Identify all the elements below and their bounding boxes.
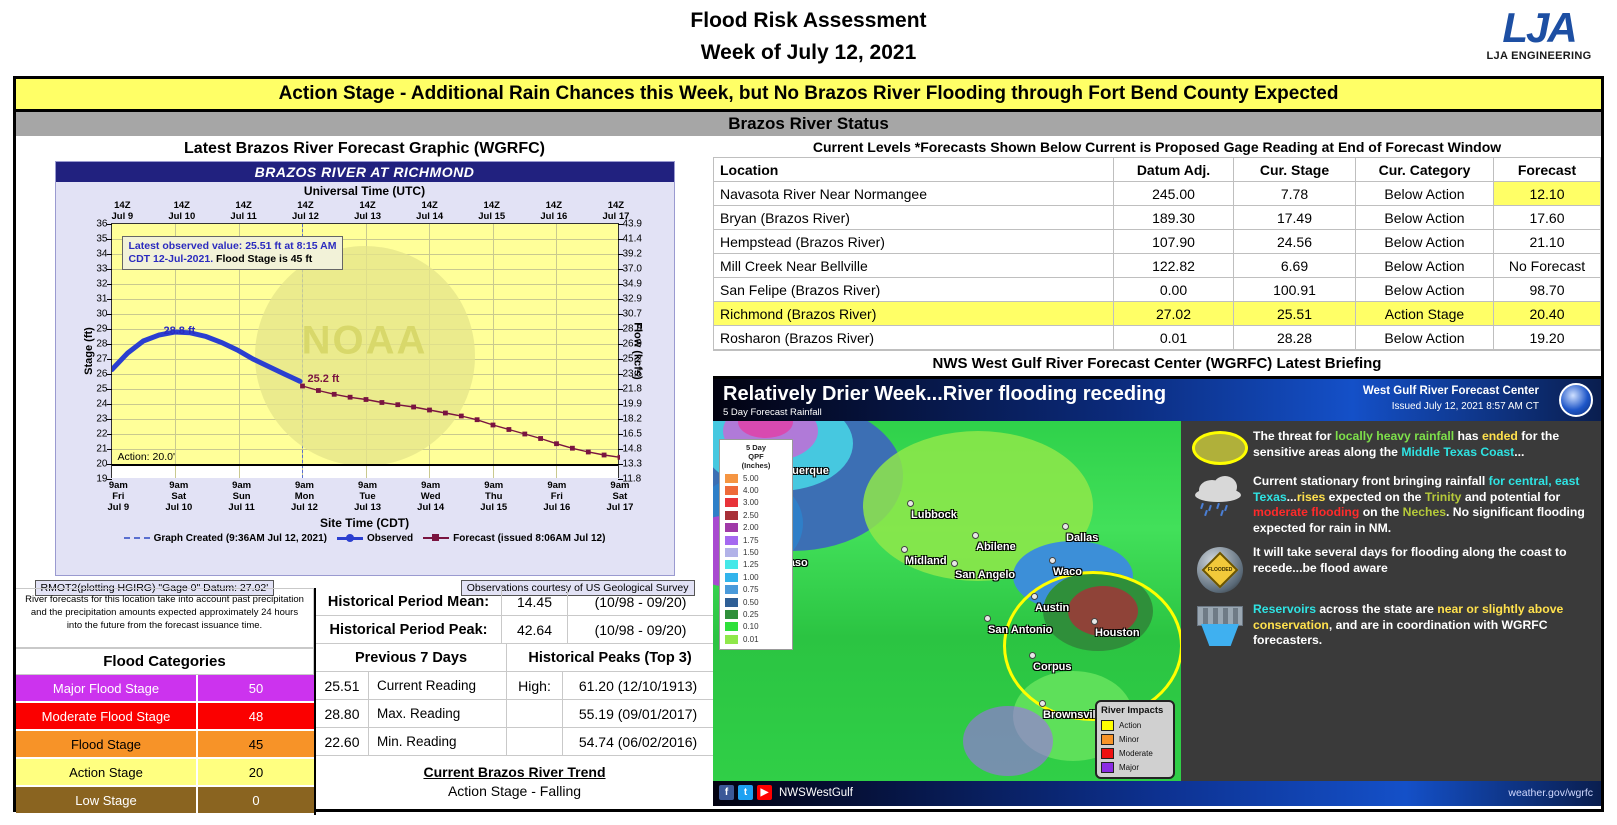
- column-header-datum-adj: Datum Adj.: [1114, 158, 1234, 182]
- flood-category-row: Moderate Flood Stage48: [16, 703, 314, 731]
- briefing-map-caption: 5 Day Forecast Rainfall: [723, 407, 822, 418]
- river-impact-item: Major: [1101, 760, 1169, 774]
- qpf-label: 1.00: [743, 573, 759, 582]
- qpf-legend-item: 0.50: [723, 596, 789, 608]
- cell-cur-category: Below Action: [1356, 182, 1494, 206]
- bullet-text-segment: ended: [1482, 429, 1518, 443]
- qpf-swatch: [725, 610, 738, 619]
- page-title-line2: Week of July 12, 2021: [0, 41, 1617, 65]
- river-impacts-legend: River Impacts ActionMinorModerateMajor: [1095, 700, 1175, 779]
- cell-cur-stage: 7.78: [1234, 182, 1356, 206]
- briefing-issued: Issued July 12, 2021 8:57 AM CT: [1392, 401, 1539, 412]
- forecast-point: [538, 436, 543, 441]
- briefing-footer: f t ▶ NWSWestGulf weather.gov/wgrfc: [713, 781, 1601, 806]
- column-header-cur-stage: Cur. Stage: [1234, 158, 1356, 182]
- left-column: Latest Brazos River Forecast Graphic (WG…: [13, 136, 713, 812]
- qpf-legend-item: 4.00: [723, 484, 789, 496]
- cell-cur-stage: 100.91: [1234, 278, 1356, 302]
- map-city-dot: [901, 546, 908, 553]
- alert-banner: Action Stage - Additional Rain Chances t…: [16, 79, 1601, 109]
- cell-forecast: 17.60: [1494, 206, 1601, 230]
- bullet-text: The threat for locally heavy rainfall ha…: [1253, 429, 1591, 465]
- qpf-swatch: [725, 486, 738, 495]
- current-levels-table: LocationDatum Adj.Cur. StageCur. Categor…: [713, 157, 1601, 350]
- river-impact-item: Minor: [1101, 732, 1169, 746]
- flood-category-label: Moderate Flood Stage: [16, 703, 196, 729]
- qpf-label: 0.75: [743, 585, 759, 594]
- peak-high-label: [506, 700, 562, 727]
- qpf-legend-item: 0.75: [723, 584, 789, 596]
- historical-row: 22.60Min. Reading54.74 (06/02/2016): [316, 728, 713, 756]
- historical-mean-value: 14.45: [501, 588, 567, 615]
- qpf-legend-item: 1.25: [723, 559, 789, 571]
- table-row: Hempstead (Brazos River)107.9024.56Below…: [714, 230, 1601, 254]
- map-city-dot: [1031, 593, 1038, 600]
- hydrograph-plot-area: NOAA Latest observed value: 25.51 ft at …: [111, 223, 619, 478]
- qpf-label: 3.00: [743, 498, 759, 507]
- right-column: Current Levels *Forecasts Shown Below Cu…: [713, 136, 1604, 812]
- cell-cur-category: Below Action: [1356, 206, 1494, 230]
- qpf-label: 1.75: [743, 536, 759, 545]
- map-city-label: Houston: [1095, 627, 1140, 639]
- callout-line2: CDT 12-Jul-2021. Flood Stage is 45 ft: [129, 253, 337, 266]
- qpf-swatch: [725, 598, 738, 607]
- historical-mean-period: (10/98 - 09/20): [567, 588, 713, 615]
- bullet-text-segment: rises: [1297, 490, 1325, 504]
- callout-line1: Latest observed value: 25.51 ft at 8:15 …: [129, 240, 337, 253]
- map-city-dot: [1049, 557, 1056, 564]
- qpf-legend-items: 5.004.003.002.502.001.751.501.251.000.75…: [723, 472, 789, 645]
- forecast-point: [522, 432, 527, 437]
- qpf-swatch: [725, 498, 738, 507]
- flood-category-label: Flood Stage: [16, 731, 196, 757]
- qpf-label: 5.00: [743, 474, 759, 483]
- cell-location: Navasota River Near Normangee: [714, 182, 1114, 206]
- site-time-tick: 9amSatJul 10: [165, 480, 192, 513]
- flood-category-row: Low Stage0: [16, 787, 314, 815]
- map-city-label: Waco: [1053, 566, 1082, 578]
- map-city-label: Abilene: [976, 541, 1016, 553]
- cell-location: Richmond (Brazos River): [714, 302, 1114, 326]
- peak-high-label: High:: [506, 672, 562, 699]
- bullet-text-segment: moderate flooding: [1253, 505, 1359, 519]
- qpf-swatch: [725, 635, 738, 644]
- forecast-point: [395, 402, 400, 407]
- hydrograph-utc-ticks: 14ZJul 914ZJul 1014ZJul 1114ZJul 1214ZJu…: [56, 198, 674, 223]
- bullet-text-segment: The threat for: [1253, 429, 1335, 443]
- cell-cur-stage: 6.69: [1234, 254, 1356, 278]
- bullet-text-segment: expected on the: [1325, 490, 1425, 504]
- reading-value: 25.51: [316, 672, 368, 699]
- column-header-forecast: Forecast: [1494, 158, 1601, 182]
- legend-forecast: Forecast (issued 8:06AM Jul 12): [423, 533, 605, 544]
- river-impacts-items: ActionMinorModerateMajor: [1101, 718, 1169, 774]
- cell-datum-adj: 107.90: [1114, 230, 1234, 254]
- website-url: weather.gov/wgrfc: [1508, 787, 1593, 799]
- flood-categories-panel: River forecasts for this location take i…: [16, 588, 314, 815]
- alert-banner-frame: Action Stage - Additional Rain Chances t…: [13, 76, 1604, 112]
- map-city-label: Dallas: [1066, 532, 1098, 544]
- reading-label: Min. Reading: [368, 728, 506, 755]
- river-impact-item: Moderate: [1101, 746, 1169, 760]
- map-city-label: San Angelo: [955, 569, 1015, 581]
- map-city-label: Lubbock: [911, 509, 957, 521]
- flood-category-row: Flood Stage45: [16, 731, 314, 759]
- site-time-tick: 9amSatJul 17: [606, 480, 633, 513]
- map-city-dot: [972, 532, 979, 539]
- y-tick-mark: [107, 479, 112, 480]
- hydrograph-y-axis-left-label: Stage (ft): [82, 327, 94, 375]
- cell-cur-stage: 17.49: [1234, 206, 1356, 230]
- historical-subheaders: Previous 7 Days Historical Peaks (Top 3): [316, 644, 713, 672]
- bullet-text-segment: ...: [1514, 445, 1524, 459]
- social-handle: NWSWestGulf: [779, 787, 853, 799]
- forecast-point: [490, 423, 495, 428]
- table-row: Mill Creek Near Bellville122.826.69Below…: [714, 254, 1601, 278]
- map-city-dot: [951, 560, 958, 567]
- cell-datum-adj: 245.00: [1114, 182, 1234, 206]
- page-header: Flood Risk Assessment Week of July 12, 2…: [0, 0, 1617, 78]
- cell-datum-adj: 27.02: [1114, 302, 1234, 326]
- forecast-point: [411, 405, 416, 410]
- hydrograph-peak-label: 28.8 ft: [164, 325, 196, 337]
- map-city-dot: [984, 615, 991, 622]
- hydrograph-site-time-ticks: 9amFriJul 99amSatJul 109amSunJul 119amMo…: [56, 478, 674, 513]
- cell-datum-adj: 189.30: [1114, 206, 1234, 230]
- hydrograph-panel-title: Latest Brazos River Forecast Graphic (WG…: [16, 136, 713, 161]
- page-title-line1: Flood Risk Assessment: [0, 9, 1617, 33]
- bullet-text-segment: Trinity: [1425, 490, 1462, 504]
- map-city-dot: [1091, 618, 1098, 625]
- table-row: Rosharon (Brazos River)0.0128.28Below Ac…: [714, 326, 1601, 350]
- y-tick-mark: [618, 479, 623, 480]
- bullet-text-segment: locally heavy rainfall: [1335, 429, 1454, 443]
- hydrograph-action-label: Action: 20.0': [118, 451, 175, 463]
- utc-tick: 14ZJul 14: [416, 200, 443, 222]
- forecast-point: [601, 453, 606, 458]
- forecast-point: [443, 411, 448, 416]
- river-impact-swatch: [1101, 720, 1114, 731]
- qpf-label: 0.50: [743, 598, 759, 607]
- cell-cur-stage: 24.56: [1234, 230, 1356, 254]
- briefing-headline: Relatively Drier Week...River flooding r…: [723, 383, 1166, 406]
- peak-value: 61.20 (12/10/1913): [562, 672, 713, 699]
- forecast-point: [474, 417, 479, 422]
- site-time-tick: 9amThuJul 15: [480, 480, 507, 513]
- hydrograph-legend: Graph Created (9:36AM Jul 12, 2021) Obse…: [56, 530, 674, 544]
- cell-datum-adj: 0.01: [1114, 326, 1234, 350]
- facebook-icon[interactable]: f: [719, 785, 734, 800]
- qpf-label: 0.25: [743, 610, 759, 619]
- river-impact-label: Minor: [1119, 735, 1139, 744]
- lja-logo-text: LJA ENGINEERING: [1475, 50, 1603, 62]
- flood-category-label: Major Flood Stage: [16, 675, 196, 701]
- observed-series: [112, 332, 300, 381]
- bullet-text: Current stationary front bringing rainfa…: [1253, 474, 1591, 536]
- forecast-point: [347, 395, 352, 400]
- briefing-header: Relatively Drier Week...River flooding r…: [713, 379, 1601, 421]
- lja-logo: LJA LJA ENGINEERING: [1475, 6, 1603, 72]
- cell-cur-category: Action Stage: [1356, 302, 1494, 326]
- flood-category-label: Action Stage: [16, 759, 196, 785]
- bullet-text-segment: It will take several days for flooding a…: [1253, 545, 1567, 575]
- reading-value: 22.60: [316, 728, 368, 755]
- qpf-legend: 5 Day QPF (Inches) 5.004.003.002.502.001…: [719, 439, 793, 650]
- table-header-row: LocationDatum Adj.Cur. StageCur. Categor…: [714, 158, 1601, 182]
- historical-peak-label: Historical Period Peak:: [316, 616, 501, 643]
- prev-7-days-header: Previous 7 Days: [316, 644, 506, 671]
- qpf-swatch: [725, 548, 738, 557]
- cell-location: San Felipe (Brazos River): [714, 278, 1114, 302]
- historical-mean-row: Historical Period Mean: 14.45 (10/98 - 0…: [316, 588, 713, 616]
- forecast-point: [554, 441, 559, 446]
- utc-tick: 14ZJul 12: [292, 200, 319, 222]
- forecast-point: [316, 388, 321, 393]
- qpf-label: 2.00: [743, 523, 759, 532]
- legend-created: Graph Created (9:36AM Jul 12, 2021): [124, 533, 327, 544]
- utc-tick: 14ZJul 16: [540, 200, 567, 222]
- briefing-bullet: Current stationary front bringing rainfa…: [1187, 474, 1591, 536]
- flood-categories-rows: Major Flood Stage50Moderate Flood Stage4…: [16, 675, 314, 815]
- qpf-label: 0.01: [743, 635, 759, 644]
- map-city-label: Corpus: [1033, 661, 1072, 673]
- forecast-point: [617, 455, 619, 460]
- forecast-point: [300, 384, 305, 389]
- lja-logo-mark: LJA: [1475, 6, 1603, 50]
- reading-label: Current Reading: [368, 672, 506, 699]
- twitter-icon[interactable]: t: [738, 785, 753, 800]
- column-header-location: Location: [714, 158, 1114, 182]
- qpf-label: 0.10: [743, 622, 759, 631]
- bullet-text-segment: Current stationary front bringing rainfa…: [1253, 474, 1489, 488]
- qpf-label: 4.00: [743, 486, 759, 495]
- peak-value: 54.74 (06/02/2016): [562, 728, 713, 755]
- flood-category-label: Low Stage: [16, 787, 196, 813]
- cell-cur-category: Below Action: [1356, 326, 1494, 350]
- bullet-text-segment: across the state are: [1316, 602, 1437, 616]
- historical-peak-row: Historical Period Peak: 42.64 (10/98 - 0…: [316, 616, 713, 644]
- bullet-text: It will take several days for flooding a…: [1253, 545, 1591, 593]
- hydrograph-action-line: [112, 464, 618, 466]
- map-city-label: Austin: [1035, 602, 1069, 614]
- flood-category-value: 0: [196, 787, 314, 813]
- cell-location: Hempstead (Brazos River): [714, 230, 1114, 254]
- hydrograph-utc-label: Universal Time (UTC): [56, 182, 674, 198]
- bullet-text-segment: and potential for: [1461, 490, 1560, 504]
- qpf-legend-item: 1.50: [723, 546, 789, 558]
- historical-peaks-header: Historical Peaks (Top 3): [506, 644, 713, 671]
- reading-label: Max. Reading: [368, 700, 506, 727]
- bullet-text-segment: on the: [1359, 505, 1402, 519]
- flood-category-value: 20: [196, 759, 314, 785]
- qpf-legend-item: 2.50: [723, 509, 789, 521]
- river-impact-swatch: [1101, 762, 1114, 773]
- qpf-swatch: [725, 523, 738, 532]
- wgrfc-briefing: Relatively Drier Week...River flooding r…: [713, 376, 1601, 806]
- qpf-label: 1.50: [743, 548, 759, 557]
- cell-forecast: 20.40: [1494, 302, 1601, 326]
- forecast-point: [363, 397, 368, 402]
- cell-location: Bryan (Brazos River): [714, 206, 1114, 230]
- dam-icon: [1187, 602, 1253, 649]
- river-impact-label: Moderate: [1119, 749, 1153, 758]
- qpf-swatch: [725, 622, 738, 631]
- forecast-rainfall-map: 5 Day QPF (Inches) 5.004.003.002.502.001…: [713, 421, 1181, 781]
- reading-value: 28.80: [316, 700, 368, 727]
- qpf-swatch: [725, 536, 738, 545]
- cell-forecast: 21.10: [1494, 230, 1601, 254]
- map-city-dot: [1039, 700, 1046, 707]
- flood-risk-dashboard: Flood Risk Assessment Week of July 12, 2…: [0, 0, 1617, 825]
- table-row: Bryan (Brazos River)189.3017.49Below Act…: [714, 206, 1601, 230]
- flood-categories-title: Flood Categories: [16, 648, 314, 675]
- highlight-oval-texas-coast: [1003, 571, 1181, 721]
- river-impacts-title: River Impacts: [1101, 705, 1169, 718]
- river-impact-item: Action: [1101, 718, 1169, 732]
- forecast-point: [585, 450, 590, 455]
- hydrograph-y-axis-right-label: Flow (kcfs): [632, 322, 644, 379]
- table-row: San Felipe (Brazos River)0.00100.91Below…: [714, 278, 1601, 302]
- map-city-label: San Antonio: [988, 624, 1052, 636]
- site-time-tick: 9amFriJul 16: [543, 480, 570, 513]
- briefing-bullets: The threat for locally heavy rainfall ha…: [1181, 421, 1601, 781]
- flood-category-value: 48: [196, 703, 314, 729]
- historical-reading-rows: 25.51Current ReadingHigh:61.20 (12/10/19…: [316, 672, 713, 756]
- flood-category-value: 45: [196, 731, 314, 757]
- flooded-sign-icon: FLOODED: [1187, 545, 1253, 593]
- qpf-legend-item: 0.10: [723, 621, 789, 633]
- utc-tick: 14ZJul 15: [478, 200, 505, 222]
- hydrograph-gage-title: BRAZOS RIVER AT RICHMOND: [56, 162, 674, 182]
- hydrograph-callout: Latest observed value: 25.51 ft at 8:15 …: [122, 236, 344, 270]
- cell-cur-category: Below Action: [1356, 254, 1494, 278]
- utc-tick: 14ZJul 11: [230, 200, 256, 222]
- section-header-brazos-river-status: Brazos River Status: [13, 112, 1604, 136]
- current-levels-title: Current Levels *Forecasts Shown Below Cu…: [713, 136, 1601, 157]
- trend-header: Current Brazos River Trend: [316, 756, 713, 783]
- site-time-tick: 9amWedJul 14: [417, 480, 444, 513]
- qpf-legend-item: 1.75: [723, 534, 789, 546]
- bullet-text-segment: Neches: [1403, 505, 1446, 519]
- briefing-bullet: Reservoirs across the state are near or …: [1187, 602, 1591, 649]
- peak-value: 55.19 (09/01/2017): [562, 700, 713, 727]
- qpf-swatch: [725, 573, 738, 582]
- table-body: Navasota River Near Normangee245.007.78B…: [714, 182, 1601, 350]
- utc-tick: 14ZJul 10: [168, 200, 195, 222]
- forecast-point: [506, 427, 511, 432]
- river-impact-label: Major: [1119, 763, 1139, 772]
- site-time-tick: 9amTueJul 13: [354, 480, 381, 513]
- cell-location: Rosharon (Brazos River): [714, 326, 1114, 350]
- historical-row: 28.80Max. Reading55.19 (09/01/2017): [316, 700, 713, 728]
- qpf-label: 2.50: [743, 511, 759, 520]
- qpf-legend-item: 3.00: [723, 497, 789, 509]
- table-row: Richmond (Brazos River)27.0225.51Action …: [714, 302, 1601, 326]
- forecast-point: [379, 400, 384, 405]
- qpf-swatch: [725, 511, 738, 520]
- utc-tick: 14ZJul 9: [112, 200, 134, 222]
- bullet-text-segment: ...: [1287, 490, 1297, 504]
- qpf-swatch: [725, 585, 738, 594]
- historical-mean-label: Historical Period Mean:: [316, 588, 501, 615]
- cell-forecast: 19.20: [1494, 326, 1601, 350]
- cell-datum-adj: 0.00: [1114, 278, 1234, 302]
- flood-category-row: Action Stage20: [16, 759, 314, 787]
- river-impact-label: Action: [1119, 721, 1141, 730]
- qpf-legend-item: 1.00: [723, 571, 789, 583]
- qpf-legend-item: 0.25: [723, 608, 789, 620]
- rain-cloud-icon: [1187, 474, 1253, 536]
- hydrograph: BRAZOS RIVER AT RICHMOND Universal Time …: [55, 161, 675, 576]
- legend-observed: Observed: [337, 533, 413, 544]
- oval-highlight-icon: [1187, 429, 1253, 465]
- cell-datum-adj: 122.82: [1114, 254, 1234, 278]
- social-media-links[interactable]: f t ▶ NWSWestGulf: [719, 785, 853, 800]
- flood-category-row: Major Flood Stage50: [16, 675, 314, 703]
- briefing-center-name: West Gulf River Forecast Center: [1363, 385, 1539, 397]
- qpf-swatch: [725, 560, 738, 569]
- forecast-point: [331, 392, 336, 397]
- river-impact-swatch: [1101, 734, 1114, 745]
- hydrograph-site-time-label: Site Time (CDT): [56, 513, 674, 530]
- forecast-point: [458, 414, 463, 419]
- bullet-text-segment: Middle Texas Coast: [1401, 445, 1514, 459]
- map-city-dot: [1062, 523, 1069, 530]
- cell-cur-stage: 28.28: [1234, 326, 1356, 350]
- qpf-legend-title: 5 Day QPF (Inches): [723, 443, 789, 472]
- historical-row: 25.51Current ReadingHigh:61.20 (12/10/19…: [316, 672, 713, 700]
- bullet-text: Reservoirs across the state are near or …: [1253, 602, 1591, 649]
- bullet-text-segment: has: [1454, 429, 1482, 443]
- river-impact-swatch: [1101, 748, 1114, 759]
- trend-value: Action Stage - Falling: [316, 783, 713, 799]
- bullet-text-segment: Reservoirs: [1253, 602, 1316, 616]
- table-row: Navasota River Near Normangee245.007.78B…: [714, 182, 1601, 206]
- cell-cur-category: Below Action: [1356, 278, 1494, 302]
- site-time-tick: 9amMonJul 12: [291, 480, 318, 513]
- utc-tick: 14ZJul 13: [354, 200, 381, 222]
- column-header-cur-category: Cur. Category: [1356, 158, 1494, 182]
- map-city-label: Midland: [905, 555, 947, 567]
- cell-location: Mill Creek Near Bellville: [714, 254, 1114, 278]
- map-city-dot: [1029, 652, 1036, 659]
- cell-forecast: 12.10: [1494, 182, 1601, 206]
- site-time-tick: 9amFriJul 9: [108, 480, 130, 513]
- hydrograph-forecast-start-label: 25.2 ft: [308, 373, 340, 385]
- briefing-body: 5 Day QPF (Inches) 5.004.003.002.502.001…: [713, 421, 1601, 781]
- youtube-icon[interactable]: ▶: [757, 785, 772, 800]
- map-city-dot: [907, 500, 914, 507]
- flood-category-value: 50: [196, 675, 314, 701]
- forecast-point: [570, 446, 575, 451]
- forecast-note: River forecasts for this location take i…: [16, 588, 314, 648]
- cell-cur-stage: 25.51: [1234, 302, 1356, 326]
- cell-forecast: No Forecast: [1494, 254, 1601, 278]
- peak-high-label: [506, 728, 562, 755]
- cell-cur-category: Below Action: [1356, 230, 1494, 254]
- cell-forecast: 98.70: [1494, 278, 1601, 302]
- lower-left-tables: River forecasts for this location take i…: [16, 588, 713, 815]
- historical-peak-value: 42.64: [501, 616, 567, 643]
- forecast-point: [427, 408, 432, 413]
- historical-peak-period: (10/98 - 09/20): [567, 616, 713, 643]
- qpf-legend-item: 0.01: [723, 633, 789, 645]
- briefing-section-title: NWS West Gulf River Forecast Center (WGR…: [713, 350, 1601, 376]
- qpf-swatch: [725, 474, 738, 483]
- noaa-seal-icon: [1559, 383, 1593, 417]
- briefing-bullet: FLOODEDIt will take several days for flo…: [1187, 545, 1591, 593]
- site-time-tick: 9amSunJul 11: [228, 480, 254, 513]
